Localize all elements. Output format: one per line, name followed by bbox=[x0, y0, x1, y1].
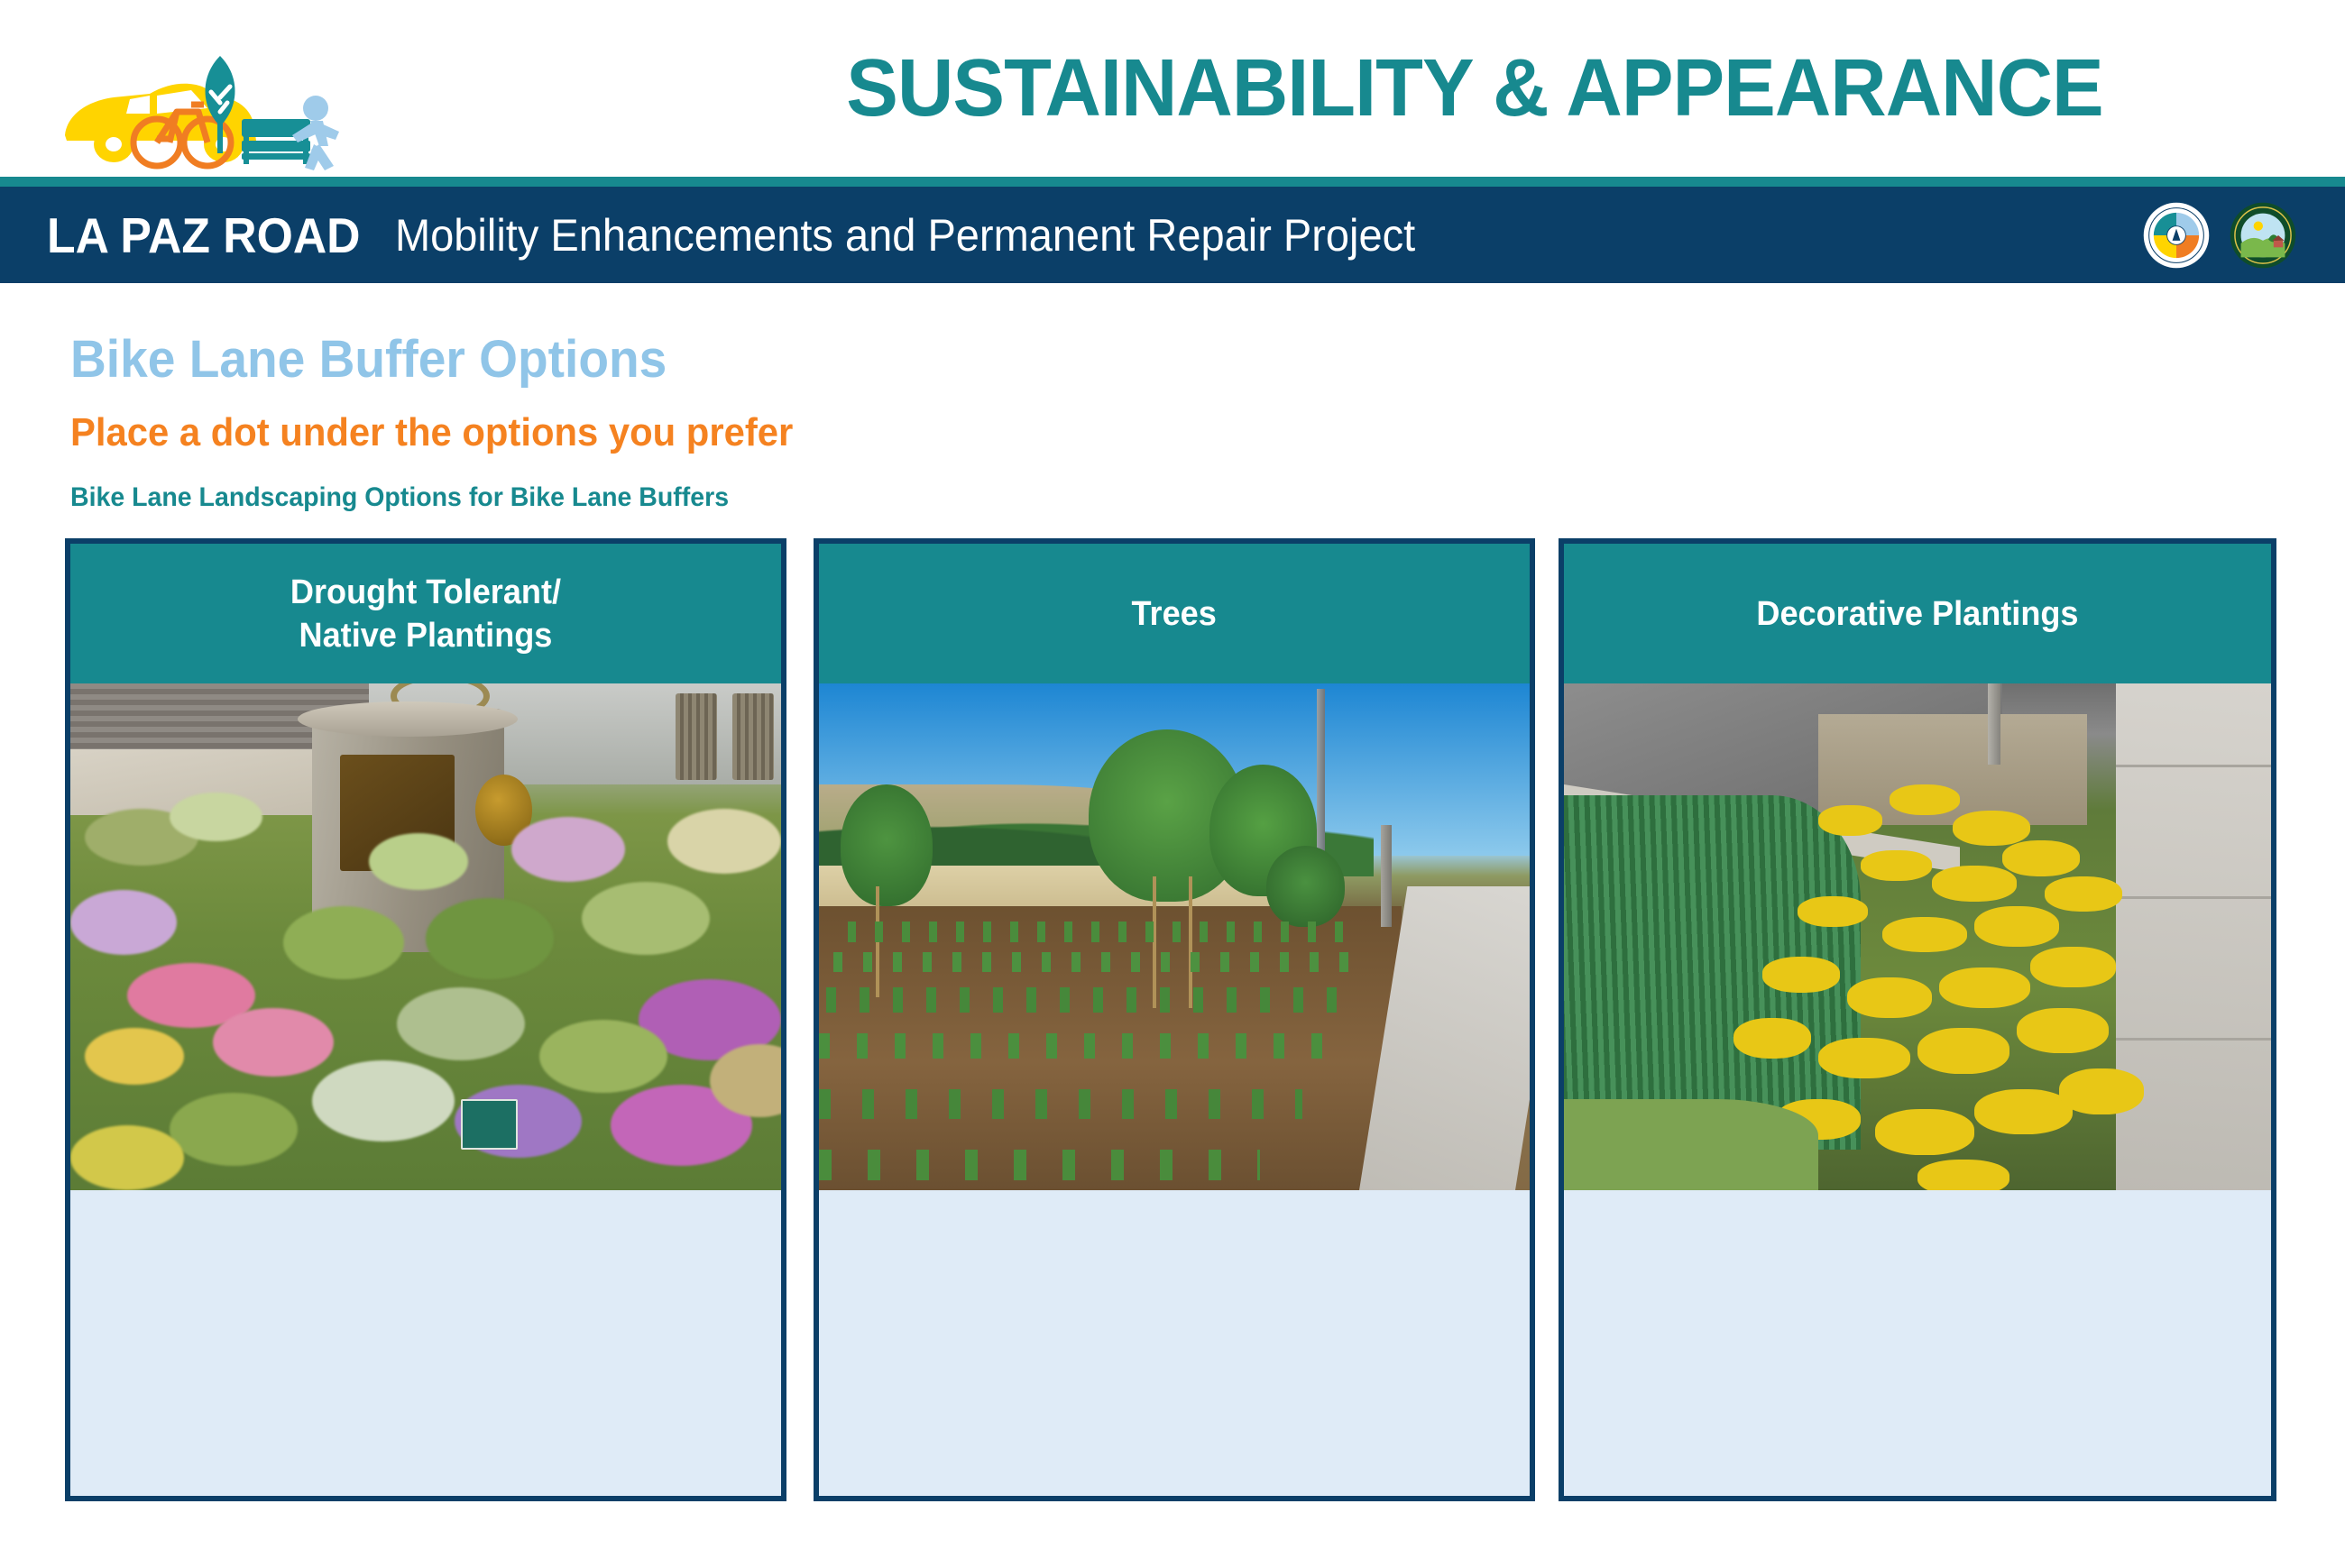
option-card-decorative-plantings[interactable]: Decorative Plantings bbox=[1559, 538, 2276, 1501]
option-card-group: Drought Tolerant/ Native Plantings bbox=[0, 0, 2345, 1568]
vote-area-decorative-plantings[interactable] bbox=[1564, 1190, 2271, 1496]
option-card-header: Trees bbox=[819, 544, 1530, 683]
option-label: Trees bbox=[1132, 592, 1217, 636]
option-photo-decorative-plantings bbox=[1564, 683, 2271, 1190]
option-label: Drought Tolerant/ Native Plantings bbox=[290, 571, 561, 657]
option-label: Decorative Plantings bbox=[1756, 592, 2078, 636]
vote-area-trees[interactable] bbox=[819, 1190, 1530, 1496]
option-photo-trees bbox=[819, 683, 1530, 1190]
option-card-header: Drought Tolerant/ Native Plantings bbox=[70, 544, 781, 683]
option-card-trees[interactable]: Trees bbox=[814, 538, 1535, 1501]
option-photo-drought-tolerant-native-plantings bbox=[70, 683, 781, 1190]
vote-area-drought-tolerant-native-plantings[interactable] bbox=[70, 1190, 781, 1496]
option-card-drought-tolerant-native-plantings[interactable]: Drought Tolerant/ Native Plantings bbox=[65, 538, 786, 1501]
option-card-header: Decorative Plantings bbox=[1564, 544, 2271, 683]
